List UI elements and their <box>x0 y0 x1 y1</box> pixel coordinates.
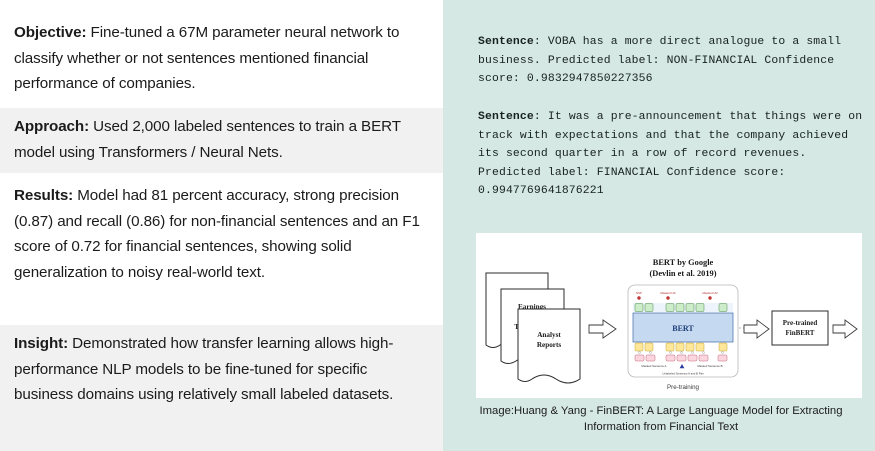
bullet-objective: Objective: Fine-tuned a 67M parameter ne… <box>14 20 426 97</box>
bullet-objective-label: Objective: <box>14 24 86 41</box>
bert-core-label: BERT <box>672 324 694 333</box>
bert-masked-lm-left-label: Masked LM <box>661 291 677 295</box>
bert-sentence-a-label: Masked Sentence A <box>642 364 667 368</box>
bert-masked-lm-right-label: Masked LM <box>703 291 719 295</box>
sentence-body-2: : It was a pre-announcement that things … <box>478 111 869 197</box>
sentence-label-1: Sentence <box>478 36 534 48</box>
sentence-body-1: : VOBA has a more direct analogue to a s… <box>478 36 848 85</box>
bullet-insight: Insight: Demonstrated how transfer learn… <box>14 331 426 408</box>
bert-title-line1: BERT by Google <box>653 258 714 267</box>
bullet-results: Results: Model had 81 percent accuracy, … <box>14 183 426 285</box>
finbert-pipeline-figure: 10K/10Q Earnings Call Transcripts Analys… <box>476 233 862 398</box>
bullet-approach-label: Approach: <box>14 118 89 135</box>
bullet-approach: Approach: Used 2,000 labeled sentences t… <box>14 114 426 165</box>
bert-sentence-b-label: Masked Sentence B <box>697 364 722 368</box>
bert-title-line2: (Devlin et al. 2019) <box>650 269 717 278</box>
bert-nsp-label: NSP <box>636 291 642 295</box>
bullet-results-text: Model had 81 percent accuracy, strong pr… <box>14 187 420 281</box>
svg-text:FinBERT: FinBERT <box>786 329 815 337</box>
prediction-output-2: Sentence: It was a pre-announcement that… <box>478 108 863 201</box>
sentence-label-2: Sentence <box>478 111 534 123</box>
pretrained-finbert-box <box>772 311 828 345</box>
svg-text:Reports: Reports <box>537 341 562 349</box>
doc-analyst-label: Analyst <box>537 331 561 339</box>
figure-caption: Image:Huang & Yang - FinBERT: A Large La… <box>461 404 861 435</box>
pretrained-finbert-label: Pre-trained <box>783 319 818 327</box>
bert-stage-label: Pre-training <box>667 384 700 391</box>
bullet-insight-label: Insight: <box>14 335 68 352</box>
bullet-results-label: Results: <box>14 187 73 204</box>
prediction-output-1: Sentence: VOBA has a more direct analogu… <box>478 33 863 89</box>
slide-root: Objective: Fine-tuned a 67M parameter ne… <box>0 0 875 451</box>
left-summary-panel: Objective: Fine-tuned a 67M parameter ne… <box>0 0 443 451</box>
finbert-pipeline-diagram: 10K/10Q Earnings Call Transcripts Analys… <box>476 233 862 398</box>
bert-pair-label: Unlabeled Sentence A and B Pair <box>662 372 703 376</box>
right-output-panel: Sentence: VOBA has a more direct analogu… <box>443 0 875 451</box>
bullet-insight-text: Demonstrated how transfer learning allow… <box>14 335 393 403</box>
